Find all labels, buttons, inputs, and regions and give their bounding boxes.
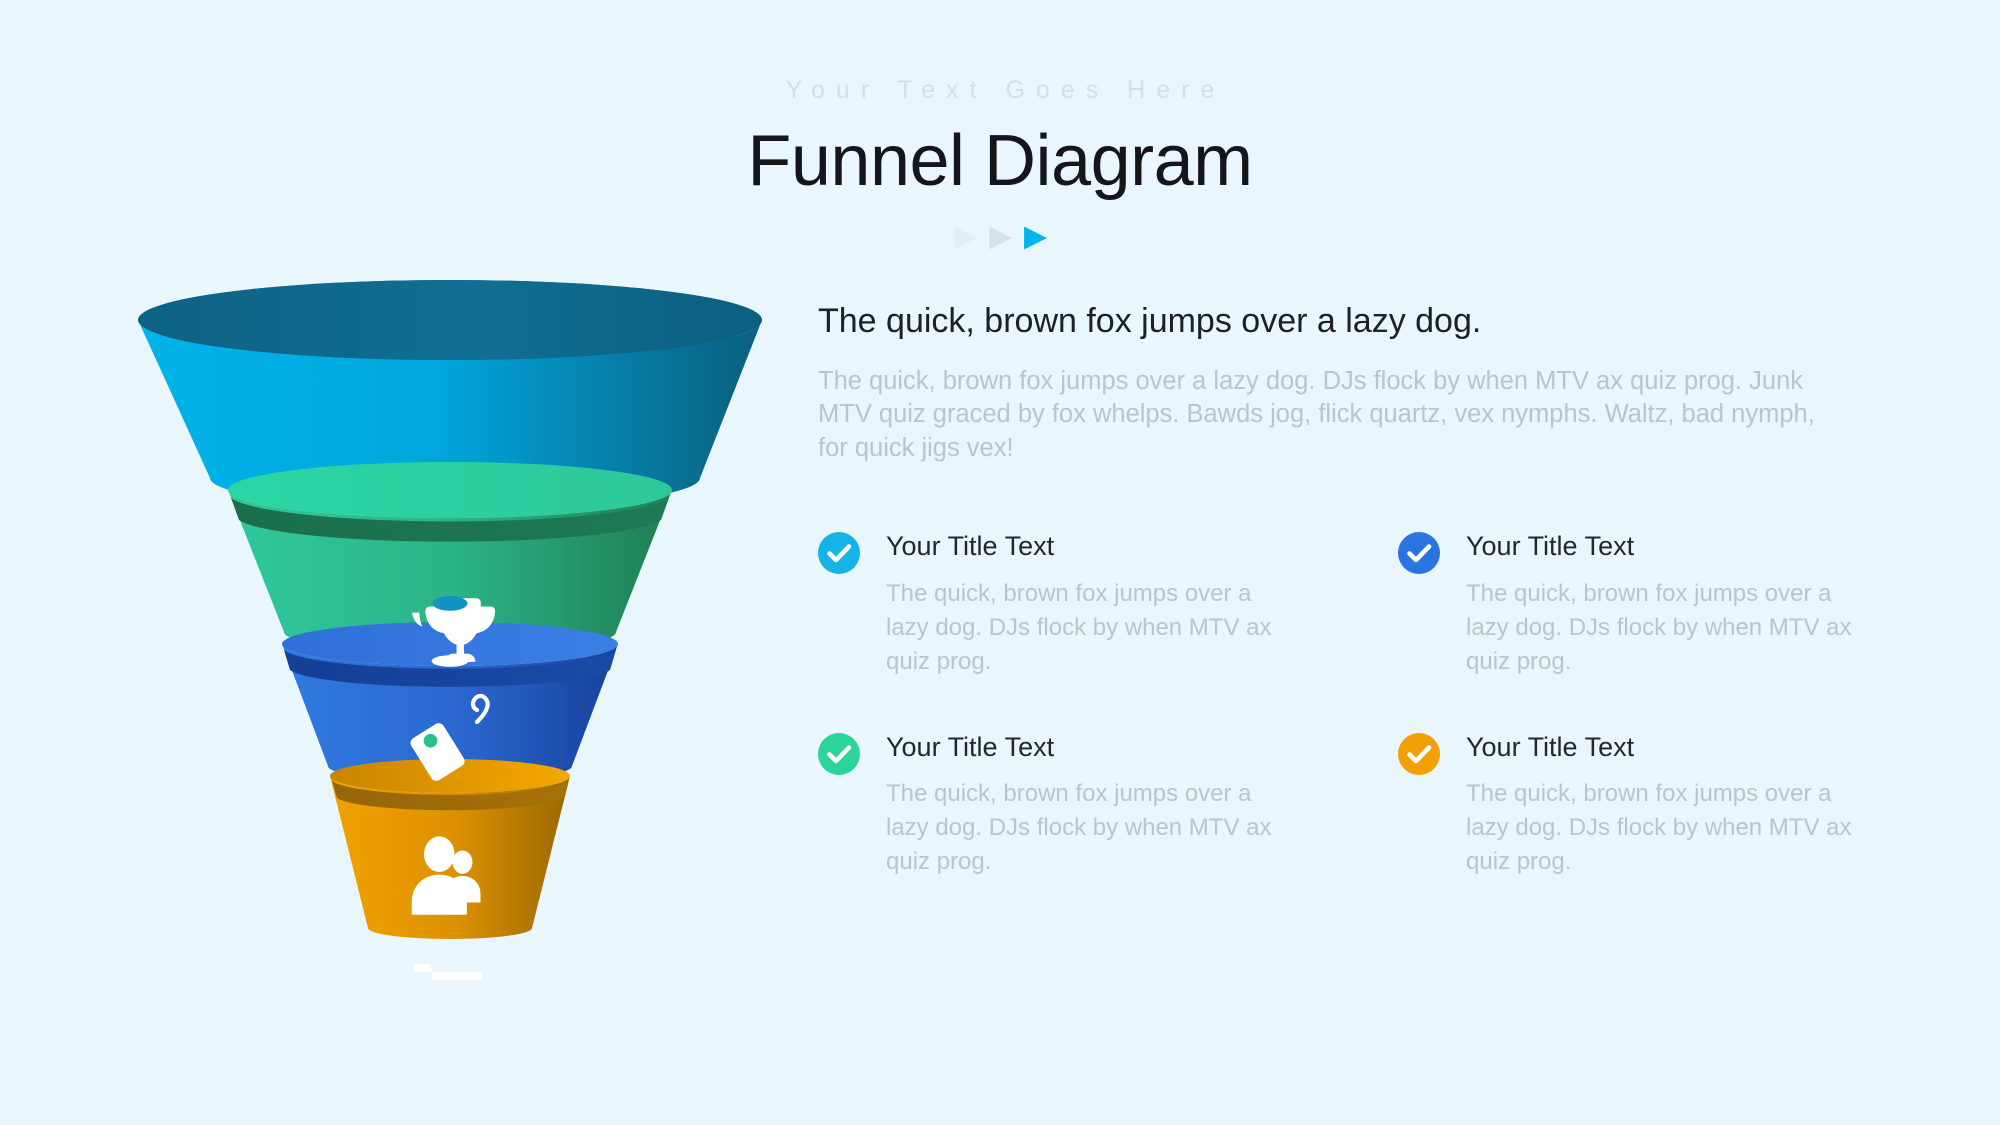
triangle-marker-1 bbox=[952, 225, 978, 251]
feature-body: The quick, brown fox jumps over a lazy d… bbox=[886, 577, 1286, 679]
triangle-marker-3 bbox=[1022, 225, 1048, 251]
feature-title: Your Title Text bbox=[1466, 528, 1978, 564]
stage-1-top-opening bbox=[138, 280, 762, 360]
feature-item-2[interactable]: Your Title Text The quick, brown fox jum… bbox=[1398, 528, 1978, 679]
feature-title: Your Title Text bbox=[886, 729, 1398, 765]
triangle-marker-2 bbox=[987, 225, 1013, 251]
funnel-diagram bbox=[110, 280, 800, 980]
triangle-marker-group bbox=[0, 225, 2000, 251]
feature-body: The quick, brown fox jumps over a lazy d… bbox=[1466, 777, 1866, 879]
eyebrow-text: Your Text Goes Here bbox=[0, 78, 2000, 103]
check-circle-icon bbox=[1398, 733, 1440, 775]
check-circle-icon bbox=[1398, 532, 1440, 574]
shopping-cart-icon bbox=[414, 964, 483, 980]
page-title: Funnel Diagram bbox=[0, 125, 2000, 197]
stage-4-icon-group bbox=[414, 964, 483, 980]
check-circle-icon bbox=[818, 532, 860, 574]
feature-title: Your Title Text bbox=[1466, 729, 1978, 765]
body-paragraph: The quick, brown fox jumps over a lazy d… bbox=[818, 365, 1828, 467]
feature-item-1[interactable]: Your Title Text The quick, brown fox jum… bbox=[818, 528, 1398, 679]
feature-item-4[interactable]: Your Title Text The quick, brown fox jum… bbox=[1398, 729, 1978, 880]
feature-grid: Your Title Text The quick, brown fox jum… bbox=[818, 528, 1868, 879]
header: Your Text Goes Here Funnel Diagram bbox=[0, 0, 2000, 251]
funnel-svg bbox=[110, 280, 800, 980]
check-circle-icon bbox=[818, 733, 860, 775]
feature-item-3[interactable]: Your Title Text The quick, brown fox jum… bbox=[818, 729, 1398, 880]
feature-body: The quick, brown fox jumps over a lazy d… bbox=[886, 777, 1286, 879]
feature-body: The quick, brown fox jumps over a lazy d… bbox=[1466, 577, 1866, 679]
lead-heading: The quick, brown fox jumps over a lazy d… bbox=[818, 300, 1868, 343]
content-column: The quick, brown fox jumps over a lazy d… bbox=[818, 300, 1868, 880]
feature-title: Your Title Text bbox=[886, 528, 1398, 564]
